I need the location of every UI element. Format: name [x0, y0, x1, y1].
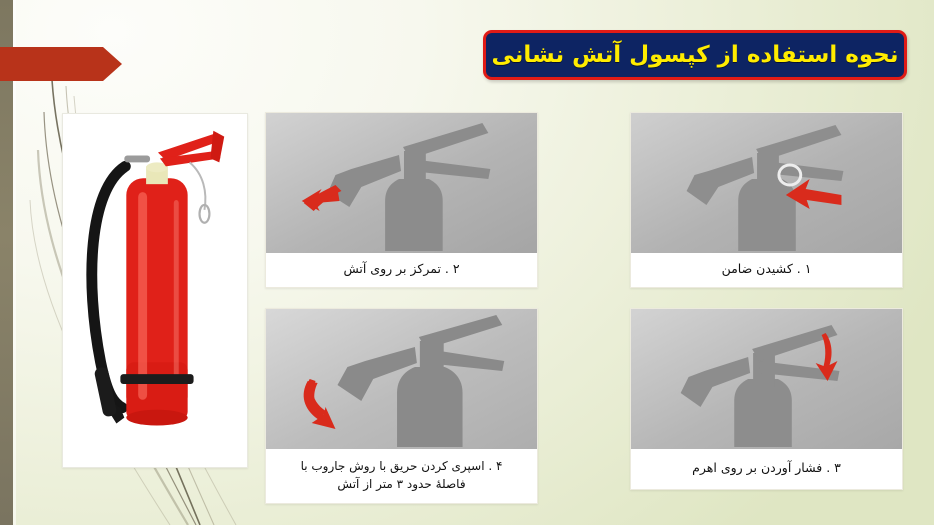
slide-title-badge: نحوه استفاده از کپسول آتش نشانی: [483, 30, 907, 80]
step-card-3[interactable]: ۳ . فشار آوردن بر روی اهرم: [630, 308, 903, 490]
step-3-photo: [631, 309, 902, 449]
fire-extinguisher-card: [62, 113, 248, 468]
step-1-caption: ۱ . کشیدن ضامن: [631, 253, 902, 287]
step-4-caption: ۴ . اسپری کردن حریق با روش جاروب با فاصل…: [266, 449, 537, 503]
fire-extinguisher-photo: [63, 114, 247, 467]
step-card-4[interactable]: ۴ . اسپری کردن حریق با روش جاروب با فاصل…: [265, 308, 538, 504]
step-3-caption: ۳ . فشار آوردن بر روی اهرم: [631, 449, 902, 489]
page-title: نحوه استفاده از کپسول آتش نشانی: [492, 42, 899, 68]
step-card-2[interactable]: ۲ . تمرکز بر روی آتش: [265, 112, 538, 288]
step-2-caption: ۲ . تمرکز بر روی آتش: [266, 253, 537, 287]
step-card-1[interactable]: ۱ . کشیدن ضامن: [630, 112, 903, 288]
step-1-photo: [631, 113, 902, 253]
right-arrow-banner: [0, 47, 122, 81]
slide-canvas: نحوه استفاده از کپسول آتش نشانی: [0, 0, 934, 525]
step-2-photo: [266, 113, 537, 253]
step-4-photo: [266, 309, 537, 449]
